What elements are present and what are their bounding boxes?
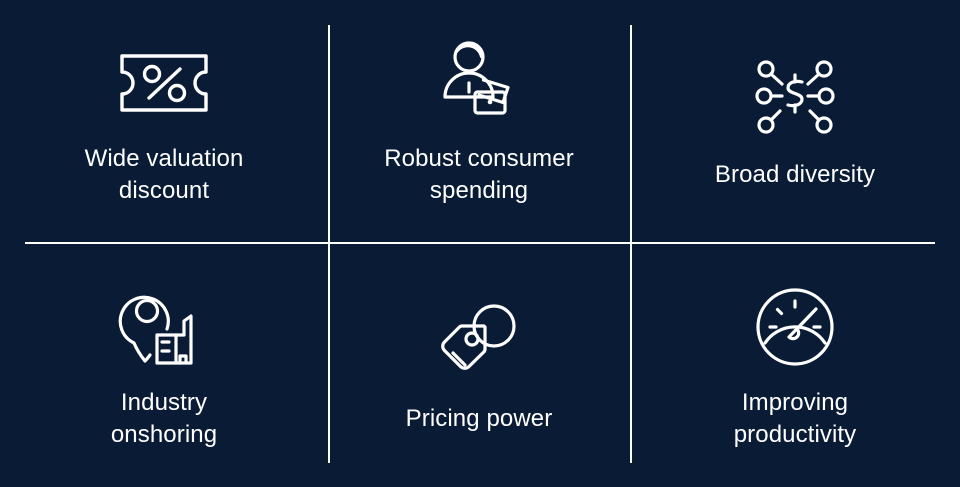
price-tag-icon [436, 301, 522, 385]
percent-ticket-icon [116, 41, 212, 125]
shopper-with-bags-icon [436, 41, 522, 125]
grid-cell-wide-valuation-discount[interactable]: Wide valuation discount [0, 0, 328, 243]
speedometer-gauge-icon [755, 285, 835, 369]
grid-cell-industry-onshoring[interactable]: Industry onshoring [0, 243, 328, 487]
themes-grid: Wide valuation discount [0, 0, 960, 487]
cell-label: Pricing power [406, 403, 553, 435]
dollar-network-nodes-icon [751, 57, 839, 141]
themes-board: Wide valuation discount [0, 0, 960, 487]
cell-label: Industry onshoring [111, 387, 217, 450]
cell-label: Wide valuation discount [85, 143, 244, 206]
cell-label: Robust consumer spending [384, 143, 574, 206]
grid-cell-pricing-power[interactable]: Pricing power [328, 243, 630, 487]
grid-cell-robust-consumer-spending[interactable]: Robust consumer spending [328, 0, 630, 243]
grid-cell-improving-productivity[interactable]: Improving productivity [630, 243, 960, 487]
cell-label: Broad diversity [715, 159, 875, 191]
map-pin-factory-icon [118, 285, 210, 369]
cell-label: Improving productivity [734, 387, 857, 450]
grid-cell-broad-diversity[interactable]: Broad diversity [630, 0, 960, 243]
